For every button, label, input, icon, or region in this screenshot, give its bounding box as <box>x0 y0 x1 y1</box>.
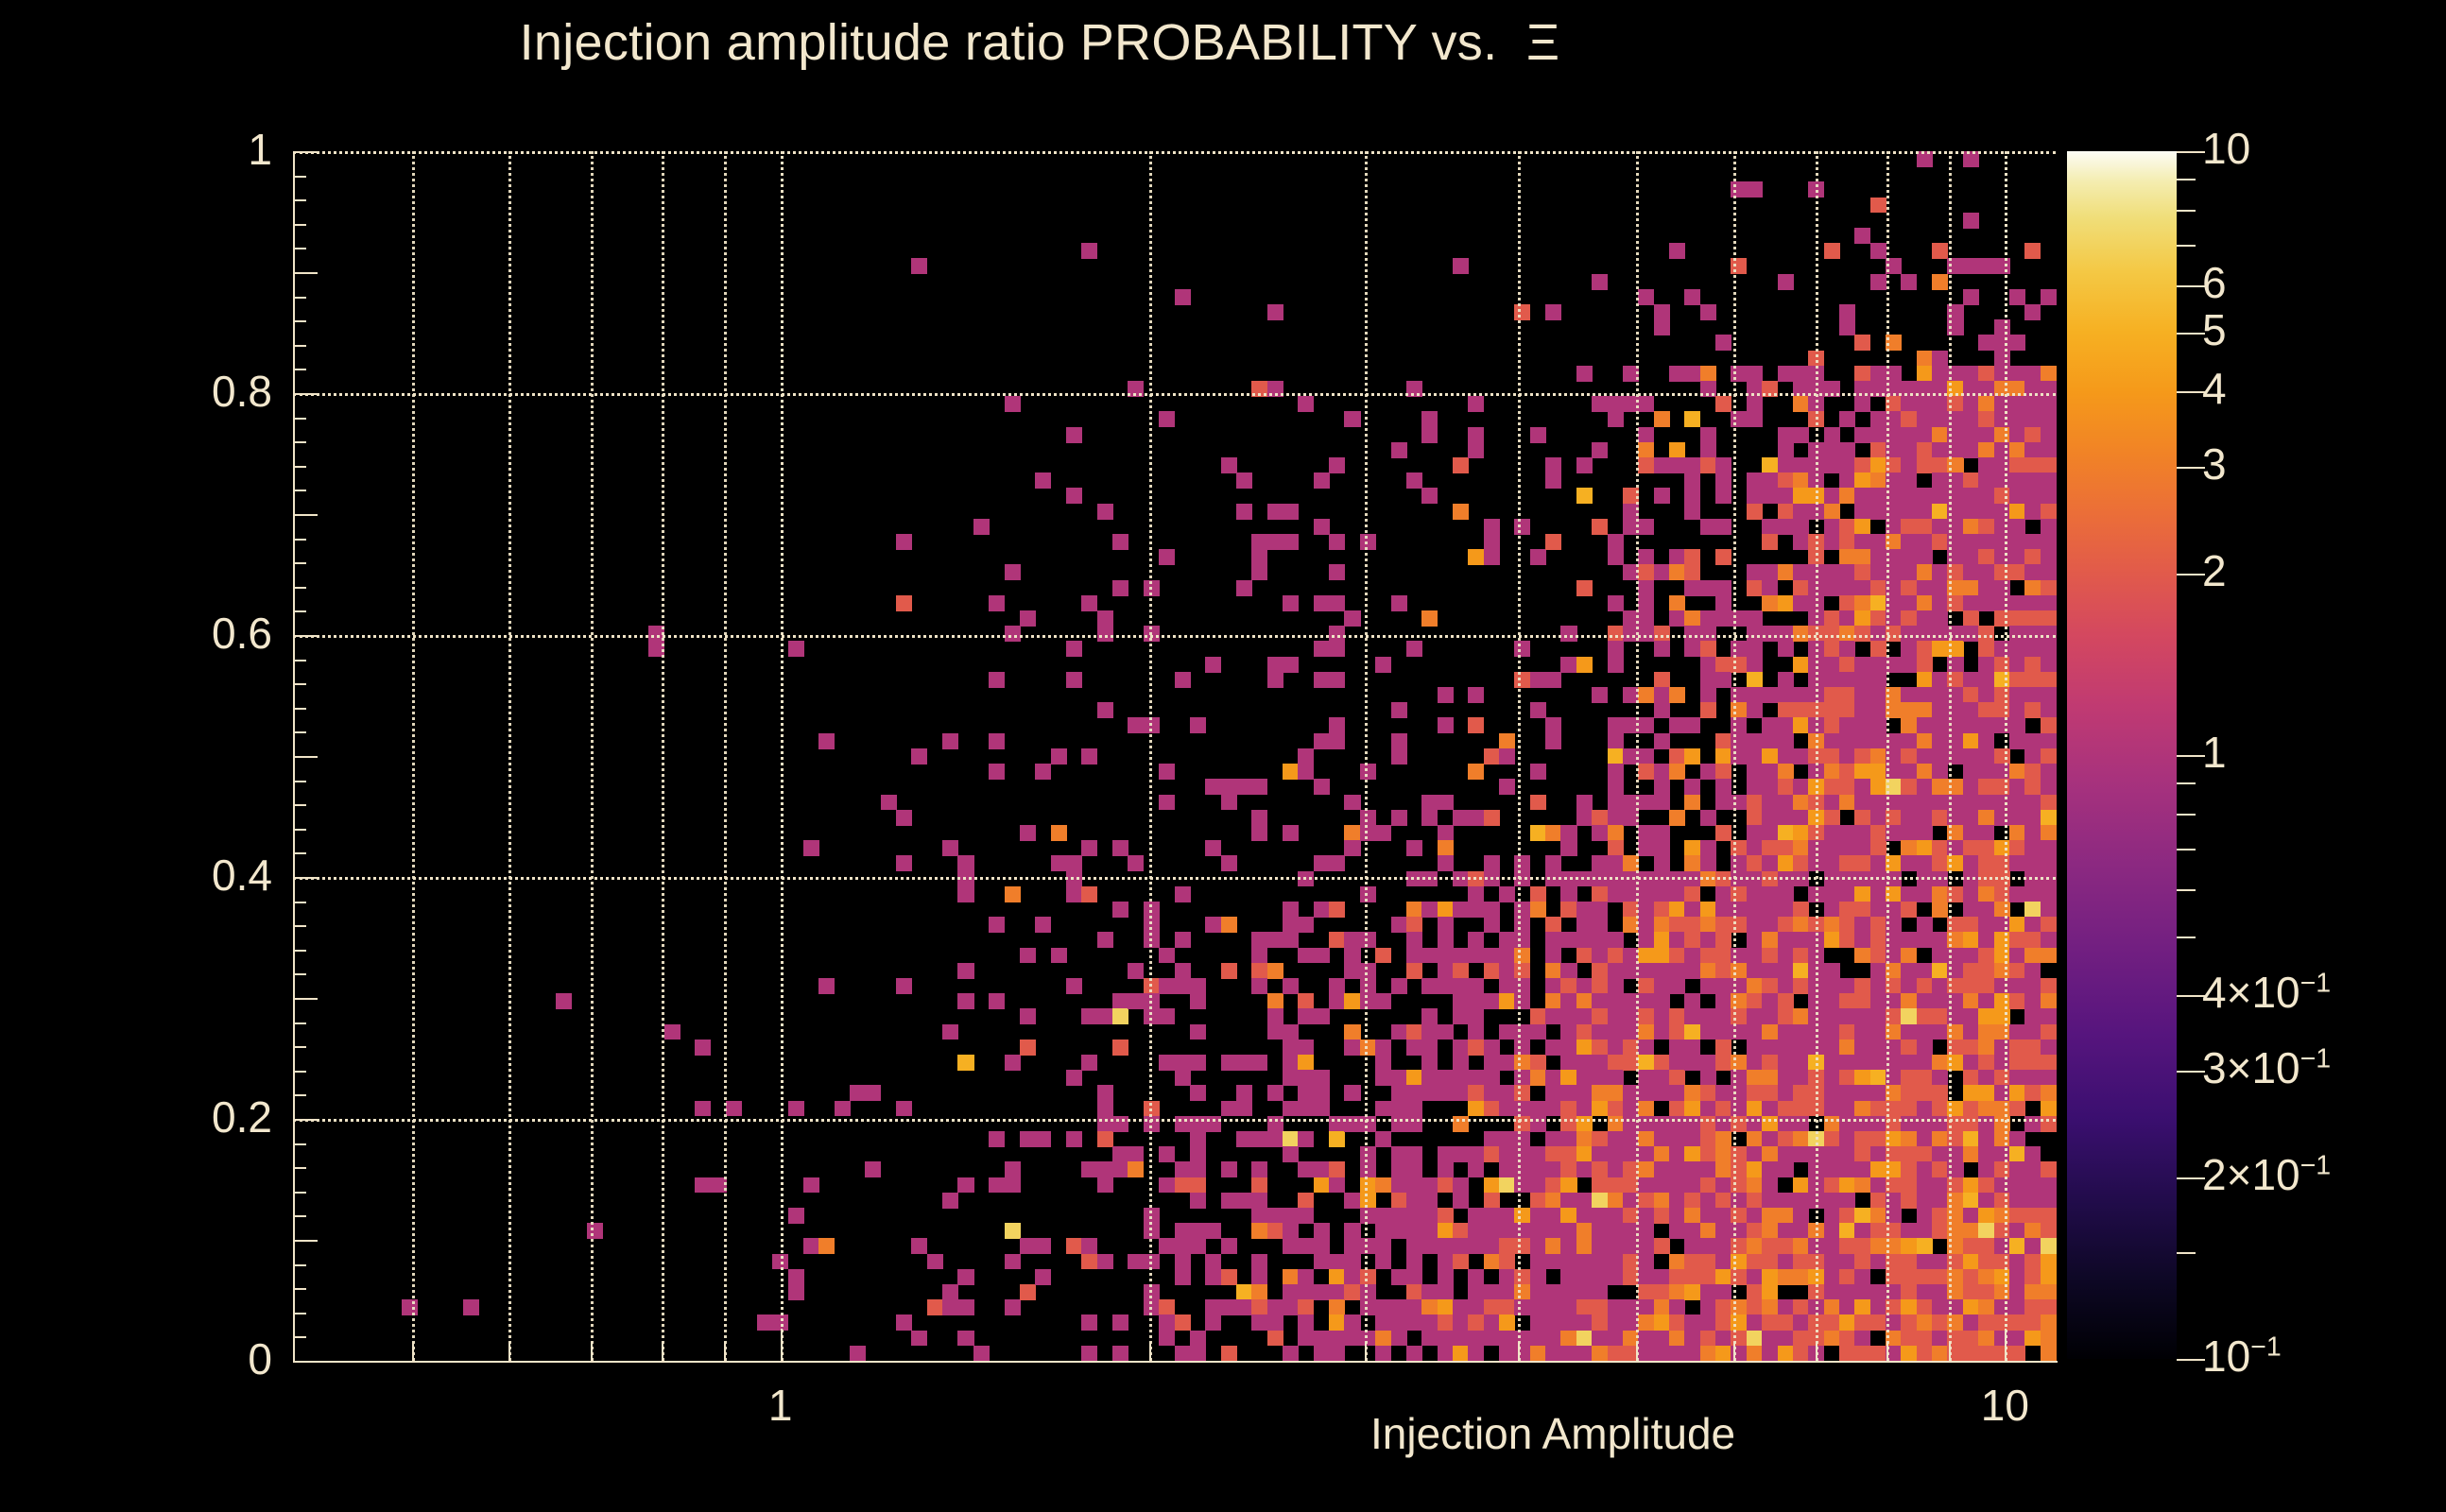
heatmap-cell <box>1267 1085 1283 1101</box>
heatmap-cell <box>1608 1177 1624 1194</box>
heatmap-cell <box>1406 1161 1422 1177</box>
heatmap-cell <box>1978 1055 1994 1071</box>
heatmap-cell <box>1824 534 1840 550</box>
heatmap-cell <box>1917 411 1933 427</box>
heatmap-cell <box>1963 258 1979 274</box>
heatmap-cell <box>1854 1346 1870 1362</box>
heatmap-cell <box>1375 825 1391 841</box>
heatmap-cell <box>1283 1131 1299 1147</box>
heatmap-cell <box>1406 472 1422 489</box>
heatmap-cell <box>1051 948 1067 964</box>
heatmap-cell <box>957 1055 973 1071</box>
heatmap-cell <box>1824 687 1840 703</box>
heatmap-cell <box>1576 1055 1593 1071</box>
heatmap-cell <box>1917 1101 1933 1117</box>
heatmap-cell <box>1854 580 1870 596</box>
heatmap-cell <box>1870 442 1886 458</box>
heatmap-cell <box>1654 948 1670 964</box>
heatmap-cell <box>1700 672 1716 688</box>
heatmap-cell <box>1314 472 1330 489</box>
heatmap-cell <box>1684 902 1700 918</box>
heatmap-cell <box>1778 948 1794 964</box>
heatmap-cell <box>1917 1223 1933 1239</box>
heatmap-cell <box>1112 993 1128 1009</box>
heatmap-cell <box>1824 1161 1840 1177</box>
heatmap-cell <box>1901 1131 1917 1147</box>
heatmap-cell <box>1824 427 1840 443</box>
heatmap-cell <box>1221 917 1237 933</box>
heatmap-cell <box>1762 1024 1778 1040</box>
heatmap-cell <box>1870 1085 1886 1101</box>
heatmap-cell <box>1438 1254 1454 1270</box>
heatmap-cell <box>1762 1131 1778 1147</box>
heatmap-cell <box>1175 1070 1191 1086</box>
heatmap-cell <box>1576 902 1593 918</box>
heatmap-cell <box>1438 1085 1454 1101</box>
heatmap-cell <box>1824 1254 1840 1270</box>
heatmap-cell <box>1391 1146 1407 1162</box>
heatmap-cell <box>1901 1223 1917 1239</box>
heatmap-cell <box>1205 779 1221 795</box>
heatmap-cell <box>1870 810 1886 826</box>
heatmap-cell <box>1560 1131 1576 1147</box>
heatmap-cell <box>1560 978 1576 994</box>
heatmap-cell <box>1669 810 1685 826</box>
heatmap-cell <box>1421 1299 1438 1315</box>
heatmap-cell <box>1190 1131 1206 1147</box>
heatmap-cell <box>1747 733 1763 749</box>
heatmap-cell <box>1715 610 1731 627</box>
heatmap-cell <box>1963 978 1979 994</box>
heatmap-cell <box>1778 1024 1794 1040</box>
heatmap-cell <box>1298 1085 1314 1101</box>
heatmap-cell <box>1901 488 1917 504</box>
heatmap-cell <box>1762 564 1778 580</box>
heatmap-cell <box>1684 1254 1700 1270</box>
heatmap-cell <box>1005 886 1021 902</box>
heatmap-cell <box>1715 457 1731 473</box>
heatmap-cell <box>1839 1208 1855 1224</box>
heatmap-cell <box>1066 672 1082 688</box>
heatmap-cell <box>2024 902 2041 918</box>
heatmap-cell <box>1314 1070 1330 1086</box>
heatmap-cell <box>1824 917 1840 933</box>
heatmap-cell <box>1406 840 1422 856</box>
heatmap-cell <box>1283 1024 1299 1040</box>
heatmap-cell <box>1762 733 1778 749</box>
heatmap-cell <box>1236 1284 1252 1300</box>
heatmap-cell <box>1963 1346 1979 1362</box>
heatmap-cell <box>1499 1314 1515 1331</box>
heatmap-cell <box>1669 1177 1685 1194</box>
heatmap-cell <box>1530 764 1546 780</box>
heatmap-cell <box>1854 657 1870 673</box>
heatmap-cell <box>1901 978 1917 994</box>
heatmap-cell <box>1530 1269 1546 1285</box>
heatmap-cell <box>1854 427 1870 443</box>
heatmap-cell <box>1901 626 1917 642</box>
heatmap-cell <box>1669 549 1685 565</box>
heatmap-cell <box>1824 1055 1840 1071</box>
heatmap-cell <box>2041 488 2057 504</box>
heatmap-cell <box>1221 1269 1237 1285</box>
heatmap-cell <box>1545 1193 1561 1209</box>
heatmap-cell <box>1901 932 1917 948</box>
heatmap-cell <box>2024 1055 2041 1071</box>
heatmap-cell <box>1762 810 1778 826</box>
heatmap-cell <box>942 1284 958 1300</box>
heatmap-cell <box>2041 1346 2057 1362</box>
heatmap-cell <box>1128 1161 1144 1177</box>
heatmap-cell <box>1344 411 1360 427</box>
heatmap-cell <box>1298 917 1314 933</box>
heatmap-cell <box>1669 1024 1685 1040</box>
heatmap-cell <box>1854 779 1870 795</box>
heatmap-cell <box>1638 717 1654 733</box>
heatmap-cell <box>1267 1024 1283 1040</box>
heatmap-cell <box>1298 1055 1314 1071</box>
heatmap-cell <box>1762 1070 1778 1086</box>
heatmap-cell <box>1159 1238 1175 1254</box>
y-tick <box>293 587 306 589</box>
heatmap-cell <box>1978 717 1994 733</box>
heatmap-cell <box>1406 1238 1422 1254</box>
heatmap-cell <box>1854 1269 1870 1285</box>
heatmap-cell <box>1778 1299 1794 1315</box>
heatmap-cell <box>1778 1055 1794 1071</box>
x-tick <box>412 1342 414 1361</box>
heatmap-cell <box>1917 886 1933 902</box>
heatmap-cell <box>1236 1101 1252 1117</box>
heatmap-cell <box>1870 1008 1886 1024</box>
heatmap-cell <box>1870 948 1886 964</box>
heatmap-cell <box>1608 1346 1624 1362</box>
heatmap-cell <box>1854 1314 1870 1331</box>
heatmap-cell <box>1576 978 1593 994</box>
heatmap-cell <box>1484 948 1500 964</box>
heatmap-cell <box>1421 1314 1438 1331</box>
heatmap-cell <box>1901 657 1917 673</box>
heatmap-cell <box>1870 795 1886 811</box>
colorbar-tick <box>2177 391 2205 393</box>
heatmap-cell <box>1406 948 1422 964</box>
heatmap-cell <box>1700 641 1716 657</box>
heatmap-cell <box>1963 1314 1979 1331</box>
heatmap-cell <box>1917 1299 1933 1315</box>
heatmap-cell <box>1251 1131 1267 1147</box>
grid-line-y <box>293 393 2056 396</box>
heatmap-cell <box>1669 442 1685 458</box>
heatmap-cell <box>1608 825 1624 841</box>
heatmap-cell <box>1901 733 1917 749</box>
heatmap-cell <box>1175 1223 1191 1239</box>
heatmap-cell <box>1298 1299 1314 1315</box>
heatmap-cell <box>1545 304 1561 320</box>
heatmap-cell <box>1592 1346 1608 1362</box>
y-tick <box>293 466 306 468</box>
heatmap-cell <box>1391 733 1407 749</box>
heatmap-cell <box>1499 1131 1515 1147</box>
heatmap-cell <box>1545 457 1561 473</box>
heatmap-cell <box>1638 1314 1654 1331</box>
x-tick <box>781 1329 783 1361</box>
heatmap-cell <box>1221 1299 1237 1315</box>
grid-line-x-minor <box>412 151 415 1361</box>
heatmap-cell <box>1190 978 1206 994</box>
heatmap-cell <box>1175 1238 1191 1254</box>
heatmap-cell <box>1638 917 1654 933</box>
heatmap-cell <box>1375 1177 1391 1194</box>
heatmap-cell <box>1778 1039 1794 1056</box>
colorbar-tick-label: 3×10−1 <box>2202 1042 2331 1093</box>
heatmap-cell <box>2041 641 2057 657</box>
heatmap-cell <box>1762 1331 1778 1347</box>
heatmap-cell <box>1421 902 1438 918</box>
heatmap-cell <box>1793 963 1809 979</box>
heatmap-cell <box>1638 1161 1654 1177</box>
heatmap-cell <box>1468 396 1484 412</box>
heatmap-cell <box>1545 978 1561 994</box>
heatmap-cell <box>1839 687 1855 703</box>
heatmap-cell <box>1020 1039 1036 1056</box>
heatmap-cell <box>2024 549 2041 565</box>
heatmap-cell <box>1778 1346 1794 1362</box>
heatmap-cell <box>1066 641 1082 657</box>
y-tick <box>293 297 306 299</box>
heatmap-cell <box>1854 902 1870 918</box>
heatmap-cell <box>1700 978 1716 994</box>
heatmap-cell <box>1901 1193 1917 1209</box>
heatmap-cell <box>1592 274 1608 290</box>
heatmap-cell <box>2041 687 2057 703</box>
heatmap-cell <box>1747 948 1763 964</box>
heatmap-cell <box>1700 702 1716 718</box>
heatmap-cell <box>1917 717 1933 733</box>
heatmap-cell <box>1793 427 1809 443</box>
heatmap-cell <box>1530 1331 1546 1347</box>
heatmap-cell <box>1793 1238 1809 1254</box>
heatmap-cell <box>1251 1314 1267 1331</box>
heatmap-cell <box>1159 795 1175 811</box>
heatmap-cell <box>2041 993 2057 1009</box>
heatmap-cell <box>818 1238 835 1254</box>
heatmap-cell <box>1545 1314 1561 1331</box>
heatmap-cell <box>1112 534 1128 550</box>
heatmap-cell <box>1870 411 1886 427</box>
heatmap-cell <box>1251 1223 1267 1239</box>
grid-line-x-minor <box>508 151 511 1361</box>
heatmap-cell <box>1715 902 1731 918</box>
heatmap-cell <box>1576 1008 1593 1024</box>
heatmap-cell <box>1870 564 1886 580</box>
heatmap-cell <box>1669 687 1685 703</box>
heatmap-cell <box>1159 764 1175 780</box>
heatmap-cell <box>1360 534 1376 550</box>
heatmap-cell <box>989 993 1005 1009</box>
heatmap-cell <box>1901 825 1917 841</box>
heatmap-cell <box>1715 657 1731 673</box>
heatmap-cell <box>1608 963 1624 979</box>
heatmap-cell <box>1684 1208 1700 1224</box>
colorbar-tick-label-exponent: −1 <box>2250 1332 2282 1363</box>
heatmap-cell <box>1963 396 1979 412</box>
heatmap-cell <box>1175 932 1191 948</box>
heatmap-cell <box>1854 504 1870 520</box>
heatmap-cell <box>1839 717 1855 733</box>
heatmap-cell <box>1839 1193 1855 1209</box>
heatmap-cell <box>1654 978 1670 994</box>
heatmap-cell <box>1205 1269 1221 1285</box>
heatmap-cell <box>1901 717 1917 733</box>
heatmap-cell <box>1747 764 1763 780</box>
heatmap-cell <box>1375 1299 1391 1315</box>
heatmap-cell <box>896 1314 912 1331</box>
grid-line-x-minor <box>1518 151 1521 1361</box>
heatmap-cell <box>1839 932 1855 948</box>
heatmap-cell <box>1963 1146 1979 1162</box>
heatmap-cell <box>1762 1177 1778 1194</box>
heatmap-cell <box>1932 963 1948 979</box>
heatmap-cell <box>1576 1101 1593 1117</box>
heatmap-cell <box>1438 902 1454 918</box>
heatmap-cell <box>1283 1039 1299 1056</box>
heatmap-cell <box>1963 748 1979 765</box>
heatmap-cell <box>1484 748 1500 765</box>
heatmap-cell <box>1499 993 1515 1009</box>
heatmap-cell <box>1267 504 1283 520</box>
heatmap-cell <box>1066 427 1082 443</box>
heatmap-cell <box>1778 932 1794 948</box>
heatmap-cell <box>1560 1238 1576 1254</box>
heatmap-cell <box>1669 717 1685 733</box>
heatmap-cell <box>1870 672 1886 688</box>
heatmap-cell <box>1654 1299 1670 1315</box>
heatmap-cell <box>2009 1146 2025 1162</box>
heatmap-cell <box>1560 1223 1576 1239</box>
heatmap-cell <box>1901 993 1917 1009</box>
heatmap-cell <box>1608 595 1624 611</box>
heatmap-cell <box>1190 1331 1206 1347</box>
heatmap-cell <box>1654 1193 1670 1209</box>
heatmap-cell <box>1175 1177 1191 1194</box>
heatmap-cell <box>1700 1101 1716 1117</box>
heatmap-cell <box>1793 702 1809 718</box>
heatmap-cell <box>1545 1299 1561 1315</box>
heatmap-cell <box>1438 687 1454 703</box>
heatmap-cell <box>2024 1299 2041 1315</box>
heatmap-cell <box>1978 748 1994 765</box>
heatmap-cell <box>1901 1070 1917 1086</box>
heatmap-cell <box>1747 886 1763 902</box>
heatmap-cell <box>2009 886 2025 902</box>
heatmap-cell <box>1700 1269 1716 1285</box>
heatmap-cell <box>1576 1269 1593 1285</box>
x-tick <box>724 1342 726 1361</box>
heatmap-cell <box>1854 978 1870 994</box>
heatmap-cell <box>1901 274 1917 290</box>
heatmap-cell <box>1453 993 1469 1009</box>
heatmap-cell <box>1453 948 1469 964</box>
heatmap-cell <box>1638 1208 1654 1224</box>
heatmap-cell <box>1654 1146 1670 1162</box>
heatmap-cell <box>1592 978 1608 994</box>
heatmap-cell <box>1035 1131 1051 1147</box>
heatmap-cell <box>1917 657 1933 673</box>
heatmap-cell <box>1839 855 1855 871</box>
heatmap-cell <box>1329 534 1345 550</box>
heatmap-cell <box>989 1177 1005 1194</box>
heatmap-cell <box>1468 1284 1484 1300</box>
heatmap-cell <box>1081 1161 1097 1177</box>
heatmap-cell <box>1793 1055 1809 1071</box>
heatmap-cell <box>1298 993 1314 1009</box>
colorbar-tick-label: 6 <box>2202 257 2227 308</box>
heatmap-cell <box>1592 902 1608 918</box>
heatmap-cell <box>1669 1101 1685 1117</box>
heatmap-cell <box>1747 917 1763 933</box>
heatmap-cell <box>1747 1008 1763 1024</box>
heatmap-cell <box>2024 748 2041 765</box>
heatmap-cell <box>1560 1024 1576 1040</box>
heatmap-cell <box>1190 1161 1206 1177</box>
heatmap-cell <box>1314 1008 1330 1024</box>
heatmap-cell <box>1221 1193 1237 1209</box>
heatmap-cell <box>1854 610 1870 627</box>
heatmap-cell <box>1453 810 1469 826</box>
heatmap-cell <box>1560 1346 1576 1362</box>
heatmap-cell <box>1963 932 1979 948</box>
heatmap-cell <box>1978 1008 1994 1024</box>
heatmap-cell <box>1005 1055 1021 1071</box>
heatmap-cell <box>1005 1223 1021 1239</box>
heatmap-cell <box>1747 1269 1763 1285</box>
heatmap-cell <box>1762 580 1778 596</box>
heatmap-cell <box>1978 641 1994 657</box>
heatmap-cell <box>1421 411 1438 427</box>
heatmap-cell <box>1700 855 1716 871</box>
heatmap-cell <box>1978 840 1994 856</box>
heatmap-cell <box>2009 840 2025 856</box>
heatmap-cell <box>1251 825 1267 841</box>
heatmap-cell <box>1700 1146 1716 1162</box>
heatmap-cell <box>1700 610 1716 627</box>
heatmap-cell <box>1778 641 1794 657</box>
heatmap-cell <box>1917 1161 1933 1177</box>
heatmap-cell <box>1978 948 1994 964</box>
heatmap-cell <box>1963 519 1979 535</box>
heatmap-cell <box>1747 840 1763 856</box>
heatmap-cell <box>1283 534 1299 550</box>
colorbar-tick <box>2177 995 2205 997</box>
heatmap-cell <box>1020 1238 1036 1254</box>
heatmap-cell <box>1854 948 1870 964</box>
heatmap-cell <box>1932 687 1948 703</box>
heatmap-cell <box>1112 1161 1128 1177</box>
heatmap-cell <box>2009 472 2025 489</box>
heatmap-cell <box>1298 1331 1314 1347</box>
heatmap-cell <box>1438 717 1454 733</box>
heatmap-cell <box>1715 779 1731 795</box>
heatmap-cell <box>2024 963 2041 979</box>
heatmap-cell <box>1932 1008 1948 1024</box>
heatmap-cell <box>1205 840 1221 856</box>
heatmap-cell <box>1700 1314 1716 1331</box>
heatmap-cell <box>1112 840 1128 856</box>
heatmap-cell <box>1499 963 1515 979</box>
heatmap-cell <box>2024 1254 2041 1270</box>
heatmap-cell <box>1978 1284 1994 1300</box>
heatmap-cell <box>1978 366 1994 382</box>
